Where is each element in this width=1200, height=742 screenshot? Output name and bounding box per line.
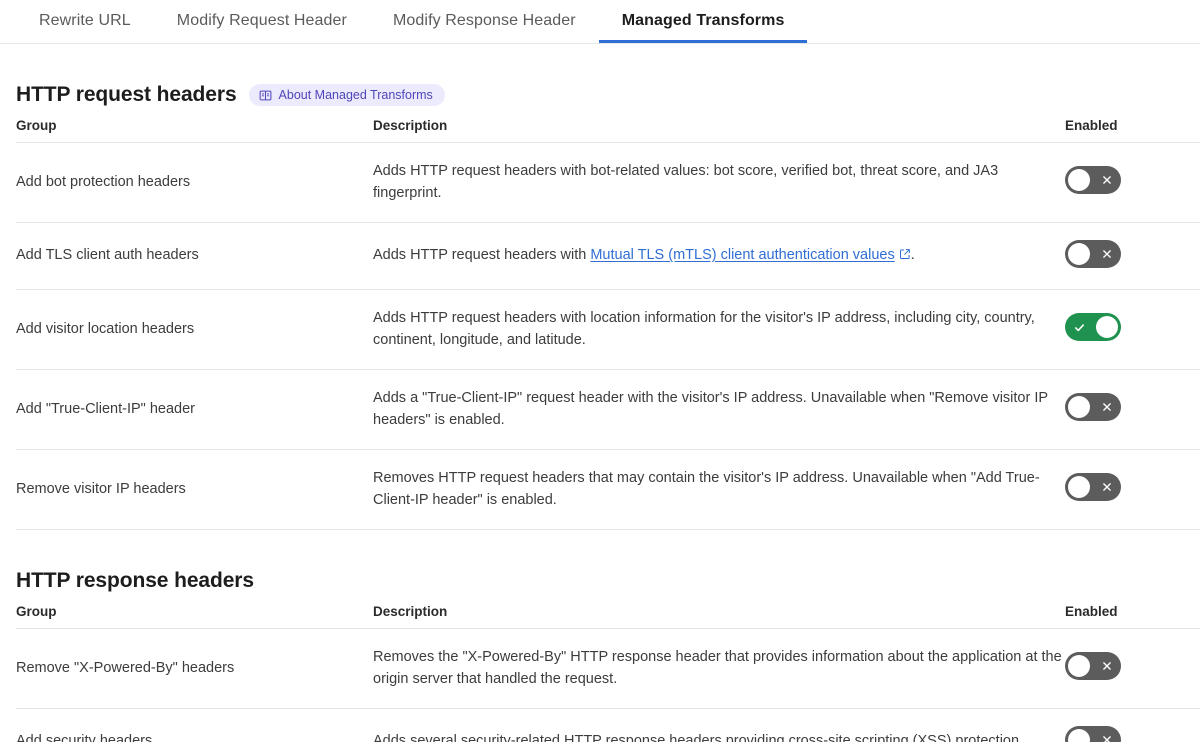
enabled-toggle[interactable] bbox=[1065, 652, 1121, 680]
row-enabled-cell bbox=[1065, 628, 1200, 708]
row-group-name: Add "True-Client-IP" header bbox=[16, 369, 373, 449]
table-header-row: GroupDescriptionEnabled bbox=[16, 118, 1200, 143]
toggle-knob bbox=[1068, 169, 1090, 191]
tab-managed-transforms[interactable]: Managed Transforms bbox=[599, 0, 808, 43]
column-header-group: Group bbox=[16, 118, 373, 143]
row-enabled-cell bbox=[1065, 289, 1200, 369]
managed-transforms-content: HTTP request headersAbout Managed Transf… bbox=[0, 83, 1200, 742]
row-enabled-cell bbox=[1065, 449, 1200, 529]
row-description: Adds HTTP request headers with Mutual TL… bbox=[373, 222, 1065, 289]
managed-transforms-table: GroupDescriptionEnabledAdd bot protectio… bbox=[16, 118, 1200, 530]
row-group-name: Add bot protection headers bbox=[16, 143, 373, 223]
column-header-enabled: Enabled bbox=[1065, 604, 1200, 629]
section-header: HTTP request headersAbout Managed Transf… bbox=[16, 83, 1184, 107]
row-group-name: Add visitor location headers bbox=[16, 289, 373, 369]
description-text-prefix: Adds HTTP request headers with bbox=[373, 247, 590, 263]
row-group-name: Remove visitor IP headers bbox=[16, 449, 373, 529]
check-icon bbox=[1073, 313, 1086, 341]
column-header-enabled: Enabled bbox=[1065, 118, 1200, 143]
book-icon bbox=[259, 89, 272, 102]
enabled-toggle[interactable] bbox=[1065, 313, 1121, 341]
column-header-description: Description bbox=[373, 604, 1065, 629]
row-description: Adds several security-related HTTP respo… bbox=[373, 708, 1065, 742]
row-description: Adds a "True-Client-IP" request header w… bbox=[373, 369, 1065, 449]
close-icon bbox=[1101, 726, 1113, 742]
transform-rules-tabbar: Rewrite URLModify Request HeaderModify R… bbox=[0, 0, 1200, 44]
row-description: Adds HTTP request headers with location … bbox=[373, 289, 1065, 369]
section-title: HTTP response headers bbox=[16, 569, 254, 593]
close-icon bbox=[1101, 240, 1113, 268]
row-enabled-cell bbox=[1065, 369, 1200, 449]
table-row: Add bot protection headersAdds HTTP requ… bbox=[16, 143, 1200, 223]
about-managed-transforms-link[interactable]: About Managed Transforms bbox=[249, 84, 445, 106]
table-row: Add "True-Client-IP" headerAdds a "True-… bbox=[16, 369, 1200, 449]
row-description: Adds HTTP request headers with bot-relat… bbox=[373, 143, 1065, 223]
description-text-suffix: . bbox=[911, 247, 915, 263]
row-group-name: Remove "X-Powered-By" headers bbox=[16, 628, 373, 708]
row-description: Removes the "X-Powered-By" HTTP response… bbox=[373, 628, 1065, 708]
enabled-toggle[interactable] bbox=[1065, 393, 1121, 421]
about-pill-label: About Managed Transforms bbox=[279, 88, 433, 102]
section-header: HTTP response headers bbox=[16, 569, 1184, 593]
external-link-icon bbox=[899, 245, 911, 267]
row-enabled-cell bbox=[1065, 143, 1200, 223]
enabled-toggle[interactable] bbox=[1065, 240, 1121, 268]
toggle-knob bbox=[1068, 729, 1090, 742]
row-group-name: Add security headers bbox=[16, 708, 373, 742]
close-icon bbox=[1101, 652, 1113, 680]
section-http-response-headers: HTTP response headersGroupDescriptionEna… bbox=[0, 569, 1200, 742]
column-header-description: Description bbox=[373, 118, 1065, 143]
table-row: Add TLS client auth headersAdds HTTP req… bbox=[16, 222, 1200, 289]
enabled-toggle[interactable] bbox=[1065, 166, 1121, 194]
mtls-documentation-link[interactable]: Mutual TLS (mTLS) client authentication … bbox=[590, 247, 894, 263]
section-title: HTTP request headers bbox=[16, 83, 237, 107]
toggle-knob bbox=[1096, 316, 1118, 338]
tab-modify-request-header[interactable]: Modify Request Header bbox=[154, 0, 370, 43]
table-row: Remove "X-Powered-By" headersRemoves the… bbox=[16, 628, 1200, 708]
toggle-knob bbox=[1068, 243, 1090, 265]
toggle-knob bbox=[1068, 396, 1090, 418]
table-row: Add security headersAdds several securit… bbox=[16, 708, 1200, 742]
toggle-knob bbox=[1068, 655, 1090, 677]
table-header-row: GroupDescriptionEnabled bbox=[16, 604, 1200, 629]
close-icon bbox=[1101, 393, 1113, 421]
row-enabled-cell bbox=[1065, 222, 1200, 289]
section-http-request-headers: HTTP request headersAbout Managed Transf… bbox=[0, 83, 1200, 530]
table-row: Add visitor location headersAdds HTTP re… bbox=[16, 289, 1200, 369]
row-enabled-cell bbox=[1065, 708, 1200, 742]
row-group-name: Add TLS client auth headers bbox=[16, 222, 373, 289]
tab-modify-response-header[interactable]: Modify Response Header bbox=[370, 0, 599, 43]
close-icon bbox=[1101, 166, 1113, 194]
column-header-group: Group bbox=[16, 604, 373, 629]
enabled-toggle[interactable] bbox=[1065, 473, 1121, 501]
row-description: Removes HTTP request headers that may co… bbox=[373, 449, 1065, 529]
table-row: Remove visitor IP headersRemoves HTTP re… bbox=[16, 449, 1200, 529]
close-icon bbox=[1101, 473, 1113, 501]
enabled-toggle[interactable] bbox=[1065, 726, 1121, 742]
tab-rewrite-url[interactable]: Rewrite URL bbox=[16, 0, 154, 43]
toggle-knob bbox=[1068, 476, 1090, 498]
managed-transforms-table: GroupDescriptionEnabledRemove "X-Powered… bbox=[16, 604, 1200, 742]
